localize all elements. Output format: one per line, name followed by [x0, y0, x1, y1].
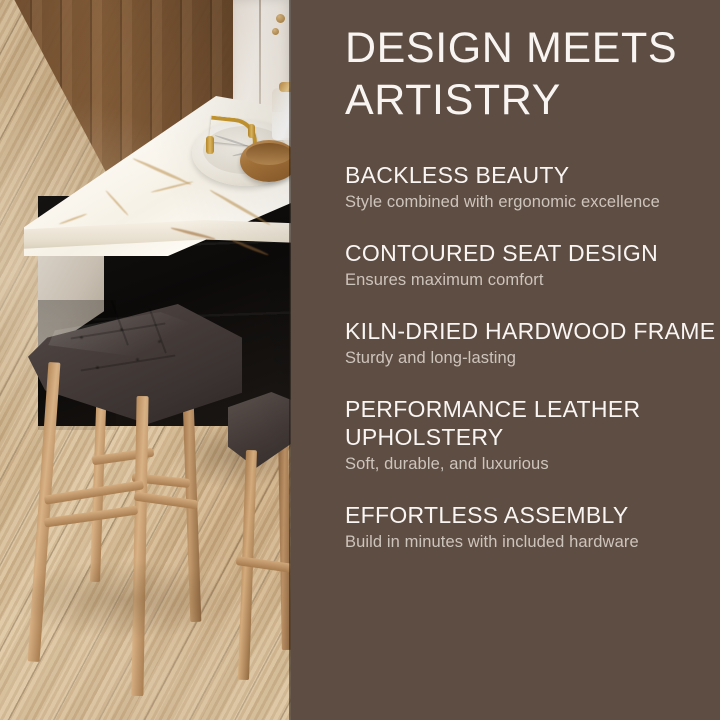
feature-heading: EFFORTLESS ASSEMBLY — [345, 501, 720, 529]
feature-heading: PERFORMANCE LEATHER UPHOLSTERY — [345, 395, 720, 451]
feature-item-contoured-seat-design: CONTOURED SEAT DESIGN Ensures maximum co… — [345, 239, 720, 291]
feature-heading: KILN-DRIED HARDWOOD FRAME — [345, 317, 720, 345]
feature-subtext: Sturdy and long-lasting — [345, 348, 720, 369]
page-title-line-1: DESIGN MEETS — [345, 22, 715, 74]
feature-item-kiln-dried-hardwood-frame: KILN-DRIED HARDWOOD FRAME Sturdy and lon… — [345, 317, 720, 369]
page-title: DESIGN MEETS ARTISTRY — [345, 22, 715, 126]
feature-item-backless-beauty: BACKLESS BEAUTY Style combined with ergo… — [345, 161, 720, 213]
feature-subtext: Soft, durable, and luxurious — [345, 454, 720, 475]
feature-text-panel: DESIGN MEETS ARTISTRY BACKLESS BEAUTY St… — [291, 0, 720, 720]
feature-subtext: Ensures maximum comfort — [345, 270, 720, 291]
page-title-line-2: ARTISTRY — [345, 74, 715, 126]
product-lifestyle-photo — [0, 0, 291, 720]
feature-subtext: Style combined with ergonomic excellence — [345, 192, 720, 213]
feature-list: BACKLESS BEAUTY Style combined with ergo… — [345, 161, 720, 553]
feature-subtext: Build in minutes with included hardware — [345, 532, 720, 553]
feature-heading: BACKLESS BEAUTY — [345, 161, 720, 189]
feature-item-effortless-assembly: EFFORTLESS ASSEMBLY Build in minutes wit… — [345, 501, 720, 553]
photo-vignette — [0, 0, 291, 720]
feature-heading: CONTOURED SEAT DESIGN — [345, 239, 720, 267]
product-feature-graphic: DESIGN MEETS ARTISTRY BACKLESS BEAUTY St… — [0, 0, 720, 720]
feature-item-performance-leather-upholstery: PERFORMANCE LEATHER UPHOLSTERY Soft, dur… — [345, 395, 720, 475]
